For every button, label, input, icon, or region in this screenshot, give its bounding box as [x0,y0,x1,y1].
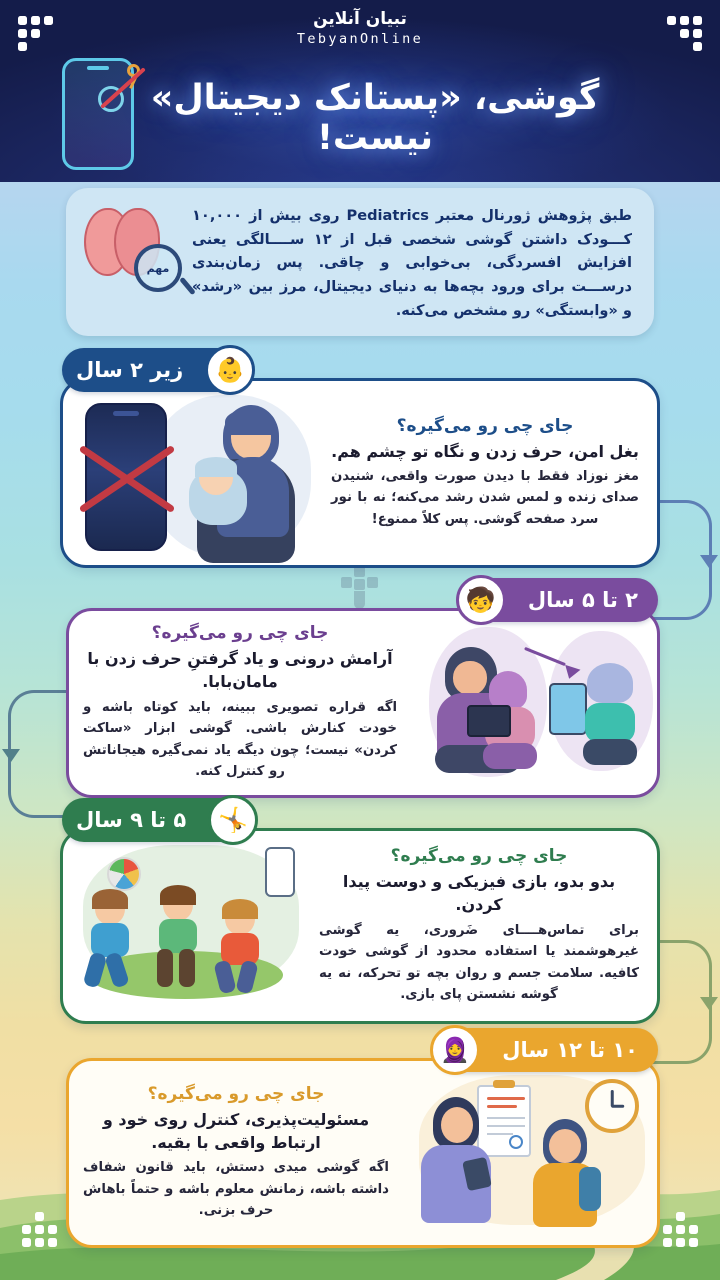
beach-ball-icon [107,857,141,891]
red-cross-icon [71,427,183,531]
running-child-blue [79,889,143,993]
section-question: جای چی رو می‌گیره؟ [83,1084,389,1104]
section-badge-5-to-9-years: 🤸 ۵ تا ۹ سال [62,798,254,842]
decorative-dots-top-left [18,16,64,54]
baby-icon: 👶 [205,345,255,395]
decorative-dots-bottom-left [22,1212,68,1250]
mother-child-tablet-crying-illustration [415,611,657,795]
student-face [549,1129,581,1163]
tablet-device [467,705,511,737]
mother-holding-baby-no-phone-illustration [63,381,317,565]
small-phone-icon [265,847,295,897]
baby-figure [185,459,251,529]
section-card-2-to-5-years: جای چی رو می‌گیره؟ آرامش درونی و یاد گرف… [66,608,660,798]
section-card-under-2-years: جای چی رو می‌گیره؟ بغل امن، حرف زدن و نگ… [60,378,660,568]
page-title: گوشی، «پستانک دیجیتال» نیست! [0,78,720,158]
connector-arrow [700,555,718,568]
section-body: مغز نوزاد فقط با دیدن صورت واقعی، شنیدن … [331,466,639,531]
children-playing-icon: 🤸 [208,795,258,845]
section-body: برای تماس‌هــــای ضَروری، یه گوشی غیرهوش… [319,920,639,1006]
section-question: جای چی رو می‌گیره؟ [83,623,397,643]
section-badge-under-2-years: 👶 زیر ۲ سال [62,348,251,392]
section-card-5-to-9-years: جای چی رو می‌گیره؟ بدو بدو، بازی فیزیکی … [60,828,660,1024]
section-badge-label: ۵ تا ۹ سال [76,808,186,832]
brand-logo: تبیان آنلاین TebyanOnline [297,11,423,47]
section-lead: مسئولیت‌پذیری، کنترل روی خود و ارتباط وا… [83,1108,389,1154]
section-question: جای چی رو می‌گیره؟ [319,846,639,866]
brand-logo-fa: تبیان آنلاین [297,11,423,28]
watermark-mark [337,566,383,612]
child-arms-up-green [145,879,211,991]
section-lead: بدو بدو، بازی فیزیکی و دوست پیدا کردن. [319,870,639,916]
section-badge-label: ۱۰ تا ۱۲ سال [502,1038,638,1062]
teacher-face [441,1107,473,1143]
section-text-under-2-years: جای چی رو می‌گیره؟ بغل امن، حرف زدن و نگ… [317,381,657,565]
section-badge-10-to-12-years: 🧕 ۱۰ تا ۱۲ سال [434,1028,658,1072]
kids-playing-ball-outdoors-illustration [63,831,305,1021]
transition-arrow-icon [523,649,579,683]
magnifier-label: مهم [138,248,178,288]
crying-child-figure [579,663,645,771]
intro-text: طبق پژوهش ژورنال معتبر Pediatrics روی بی… [192,204,632,322]
teacher-figure [419,1097,493,1225]
section-lead: بغل امن، حرف زدن و نگاه تو چشم هم. [331,440,639,463]
student-figure [529,1119,603,1227]
section-card-10-to-12-years: جای چی رو می‌گیره؟ مسئولیت‌پذیری، کنترل … [66,1058,660,1248]
infographic-page: تبیان آنلاین TebyanOnline گوشی، «پستانک … [0,0,720,1280]
section-text-2-to-5-years: جای چی رو می‌گیره؟ آرامش درونی و یاد گرف… [69,611,415,795]
section-badge-label: زیر ۲ سال [76,358,183,382]
section-body: اگه گوشی میدی دستش، باید قانون شفاف داشت… [83,1157,389,1222]
header-banner: تبیان آنلاین TebyanOnline گوشی، «پستانک … [0,0,720,182]
connector-arrow [700,997,718,1010]
magnifier-icon: مهم [134,244,182,292]
section-text-5-to-9-years: جای چی رو می‌گیره؟ بدو بدو، بازی فیزیکی … [305,831,657,1021]
decorative-dots-top-right [656,16,702,54]
teen-girl-icon: 🧕 [430,1025,480,1075]
section-lead: آرامش درونی و یاد گرفتنِ حرف زدن با ماما… [83,647,397,693]
brain-magnifier-icon: مهم [80,200,184,296]
section-badge-2-to-5-years: 🧒 ۲ تا ۵ سال [460,578,658,622]
section-text-10-to-12-years: جای چی رو می‌گیره؟ مسئولیت‌پذیری، کنترل … [69,1061,407,1245]
toddler-blocks-icon: 🧒 [456,575,506,625]
intro-panel: مهم طبق پژوهش ژورنال معتبر Pediatrics رو… [66,188,654,336]
brand-logo-en: TebyanOnline [297,33,423,47]
section-body: اگه قراره تصویری ببینه، باید کوتاه باشه … [83,697,397,783]
running-child-orange [209,901,273,1001]
section-question: جای چی رو می‌گیره؟ [331,416,639,436]
section-badge-label: ۲ تا ۵ سال [528,588,638,612]
connector-arrow [2,749,20,762]
teacher-student-contract-clock-illustration [407,1061,657,1245]
